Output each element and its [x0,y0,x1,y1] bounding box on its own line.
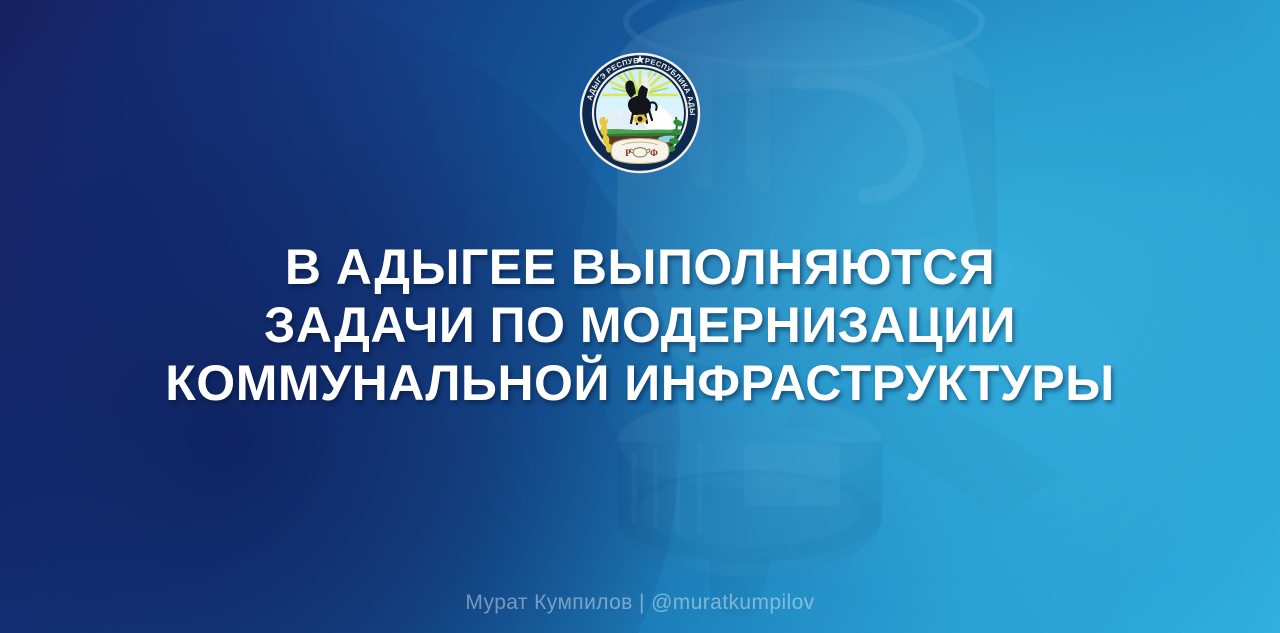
headline-line-1: В АДЫГЕЕ ВЫПОЛНЯЮТСЯ [0,238,1280,296]
author-name: Мурат Кумпилов [465,591,632,614]
author-credit: Мурат Кумпилов | @muratkumpilov [0,591,1280,615]
news-card: АДЫГЭ РЕСПУБЛИК РЕСПУБЛИКА АДЫГЕЯ [0,0,1280,633]
credit-separator: | [639,591,645,614]
coat-of-arms-emblem: АДЫГЭ РЕСПУБЛИК РЕСПУБЛИКА АДЫГЕЯ [578,51,702,175]
headline-line-3: КОММУНАЛЬНОЙ ИНФРАСТРУКТУРЫ [0,354,1280,412]
emblem-scroll-letter-f: Ф [650,148,658,158]
author-handle: @muratkumpilov [651,591,814,614]
page-title: В АДЫГЕЕ ВЫПОЛНЯЮТСЯ ЗАДАЧИ ПО МОДЕРНИЗА… [0,238,1280,412]
emblem-scroll-letter-r: Р [625,148,631,158]
emblem-scroll: Р Ф [611,139,669,164]
headline-line-2: ЗАДАЧИ ПО МОДЕРНИЗАЦИИ [0,296,1280,354]
